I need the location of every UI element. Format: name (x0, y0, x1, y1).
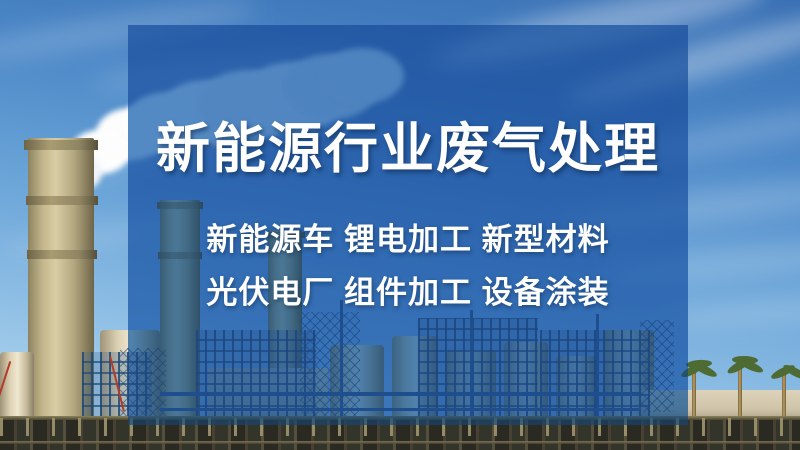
banner-subtitle-line-2: 光伏电厂 组件加工 设备涂装 (206, 277, 609, 308)
smokestack-band (24, 140, 98, 150)
rail-line (0, 441, 800, 444)
smokestack-band (26, 196, 98, 205)
banner-title: 新能源行业废气处理 (156, 121, 660, 178)
smokestack-band (27, 250, 97, 259)
banner-image: 新能源行业废气处理 新能源车 锂电加工 新型材料 光伏电厂 组件加工 设备涂装 (0, 0, 800, 450)
banner-subtitle-line-1: 新能源车 锂电加工 新型材料 (206, 224, 609, 255)
banner-text-block: 新能源行业废气处理 新能源车 锂电加工 新型材料 光伏电厂 组件加工 设备涂装 (128, 25, 688, 425)
